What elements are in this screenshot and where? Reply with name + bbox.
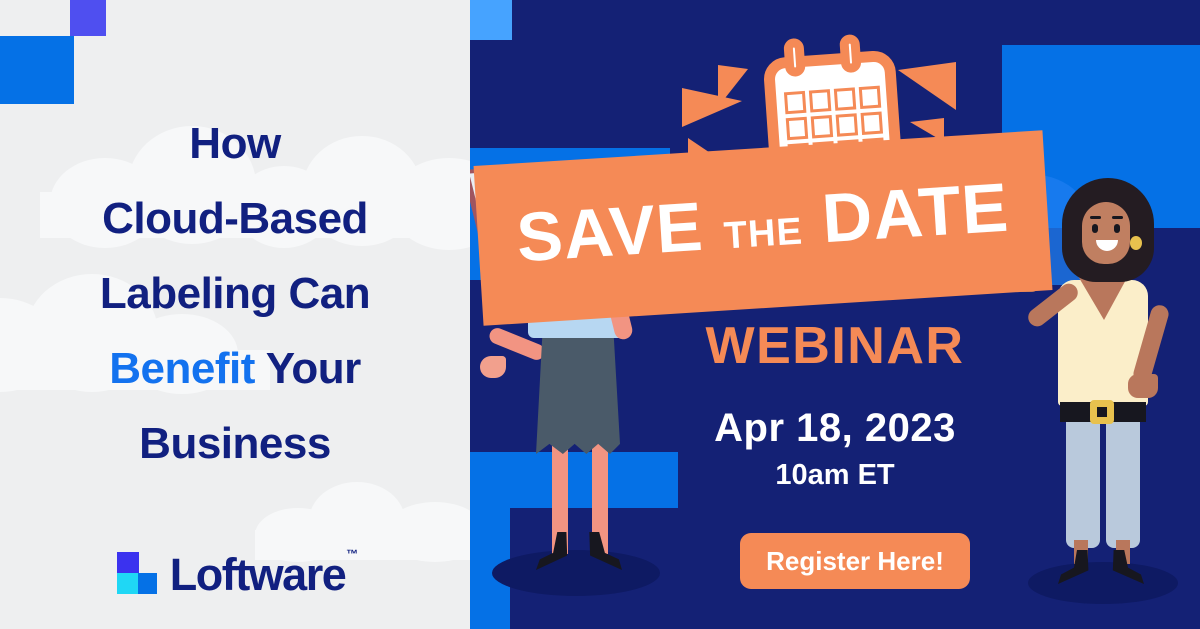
ribbon-word-date: DATE	[820, 168, 1011, 257]
calendar-cell	[834, 87, 856, 110]
headline-line-1: How	[0, 106, 470, 181]
floor-shadow	[1028, 562, 1178, 604]
logo-wordmark: Loftware™	[170, 548, 358, 597]
eyebrow	[1090, 216, 1101, 219]
eyebrow	[1112, 216, 1123, 219]
event-time: 10am ET	[470, 459, 1200, 492]
headline-line-3: Labeling Can	[0, 256, 470, 331]
burst-ray-icon	[898, 62, 956, 110]
webinar-label: WEBINAR	[470, 316, 1200, 376]
logo-square-cyan	[117, 573, 138, 594]
decorative-lightblue-square	[470, 0, 512, 40]
calendar-ring	[783, 38, 806, 77]
right-event-panel: SAVE THE DATE WEBINAR Apr 18, 2023 10am …	[470, 0, 1200, 629]
save-the-date-ribbon: SAVE THE DATE	[474, 130, 1053, 325]
trademark-symbol: ™	[346, 547, 358, 561]
calendar-cell	[786, 117, 808, 140]
decorative-violet-square-top	[70, 0, 106, 36]
calendar-cell	[836, 113, 858, 136]
headline-line-4: Benefit Your	[0, 331, 470, 406]
calendar-cell	[859, 86, 881, 109]
headline-accent-word: Benefit	[109, 344, 255, 393]
calendar-cell	[861, 112, 883, 135]
page-title: How Cloud-Based Labeling Can Benefit You…	[0, 106, 470, 481]
logo-square-violet	[117, 552, 139, 573]
logo-wordmark-text: Loftware	[170, 549, 346, 600]
save-the-date-text: SAVE THE DATE	[515, 172, 1012, 284]
logo-square-blue	[138, 573, 157, 594]
ribbon-word-the: THE	[723, 210, 804, 257]
headline-line-5: Business	[0, 406, 470, 481]
loftware-logo: Loftware™	[0, 548, 470, 597]
face	[1082, 202, 1130, 264]
loftware-squares-mark-icon	[113, 552, 157, 594]
calendar-cell	[809, 89, 831, 112]
floor-shadow	[492, 550, 660, 596]
event-date: Apr 18, 2023	[470, 406, 1200, 451]
calendar-ring	[839, 34, 862, 73]
webinar-promo-banner: How Cloud-Based Labeling Can Benefit You…	[0, 0, 1200, 629]
burst-ray-icon	[718, 65, 748, 107]
calendar-cell	[811, 115, 833, 138]
headline-line-2: Cloud-Based	[0, 181, 470, 256]
register-button[interactable]: Register Here!	[740, 533, 970, 589]
eye	[1114, 224, 1120, 233]
decorative-blue-square-top	[0, 36, 74, 104]
calendar-cell	[784, 91, 806, 114]
hand-on-hip	[1128, 374, 1158, 398]
earring	[1130, 236, 1142, 250]
headline-line-4-rest: Your	[255, 344, 361, 393]
ribbon-word-save: SAVE	[514, 187, 705, 276]
eye	[1092, 224, 1098, 233]
left-content-panel: How Cloud-Based Labeling Can Benefit You…	[0, 0, 470, 629]
